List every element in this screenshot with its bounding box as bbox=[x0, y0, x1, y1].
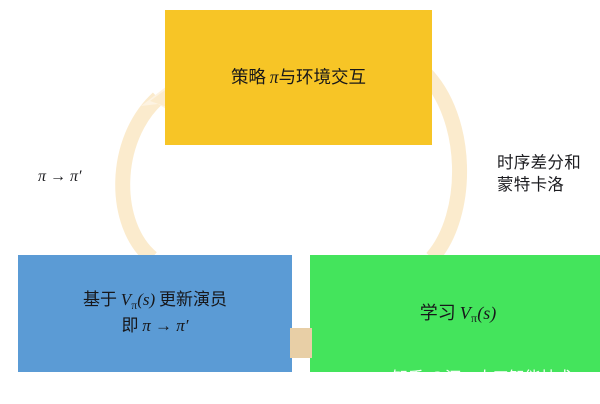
node-critic-label: 学习Vπ(s) bbox=[420, 300, 496, 328]
node-policy-environment-interaction[interactable]: 策略π与环境交互 bbox=[165, 10, 432, 145]
edge-critic-to-policy-arc bbox=[123, 86, 171, 258]
edge-label-policy-improvement: π → π′ bbox=[38, 166, 82, 188]
node-update-actor[interactable]: 基于Vπ(s)更新演员 即π → π′ bbox=[18, 255, 292, 372]
edge-actor-critic-connector bbox=[290, 328, 312, 358]
node-actor-line1: 基于Vπ(s)更新演员 bbox=[83, 288, 227, 313]
edge-label-td-monte-carlo: 时序差分和蒙特卡洛 bbox=[497, 152, 581, 197]
node-learn-value-function[interactable]: 学习Vπ(s) bbox=[310, 255, 600, 372]
watermark: 知乎 @汀丶人工智能技术 bbox=[392, 364, 573, 388]
node-actor-line2: 即π → π′ bbox=[122, 314, 189, 339]
node-policy-label: 策略π与环境交互 bbox=[231, 65, 366, 90]
diagram-canvas: 策略π与环境交互 基于Vπ(s)更新演员 即π → π′ 学习Vπ(s) π →… bbox=[0, 0, 600, 404]
